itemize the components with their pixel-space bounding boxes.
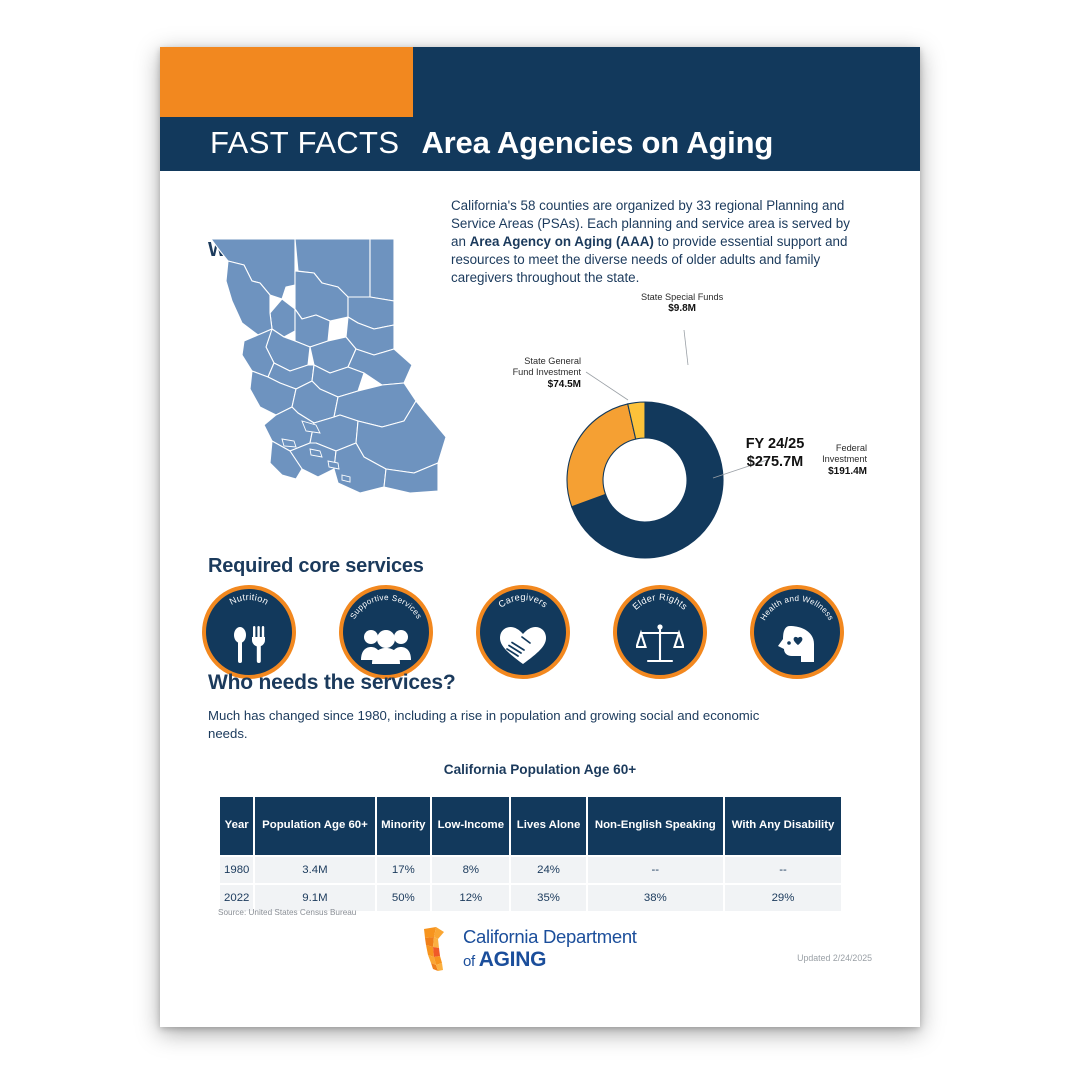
orange-accent-block [160,47,413,117]
logo-line-california-department: California Department [463,928,637,947]
header-title-group: FAST FACTS Area Agencies on Aging [210,115,773,171]
scales-of-justice-icon [617,619,703,671]
cdA-logo: California Department of AGING [422,923,637,975]
label-text-general-1: State General [524,356,581,366]
label-value-special: $9.8M [641,303,723,314]
logo-line-of-aging: of AGING [463,949,637,970]
people-group-icon [343,619,429,671]
table-cell: 50% [377,885,431,911]
infographic-page: FAST FACTS Area Agencies on Aging What’s… [0,0,1080,1080]
svg-text:Supportive Services: Supportive Services [348,593,423,621]
page-title: Area Agencies on Aging [421,125,773,161]
label-text-special: State Special Funds [641,292,723,302]
table-column-header: Year [220,797,253,855]
table-cell: 38% [588,885,723,911]
intro-paragraph: California's 58 counties are organized b… [451,197,863,287]
table-column-header: With Any Disability [725,797,841,855]
logo-aging: AGING [479,948,546,971]
table-cell: 3.4M [255,857,374,883]
table-header-row: YearPopulation Age 60+MinorityLow-Income… [220,797,841,855]
california-shape-logo-icon [422,926,456,972]
head-with-heart-icon [754,619,840,671]
donut-label-state-general-fund: State General Fund Investment $74.5M [457,356,581,390]
table-column-header: Minority [377,797,431,855]
california-counties-map-icon [198,225,453,495]
intro-text-bold: Area Agency on Aging (AAA) [470,234,654,249]
table-column-header: Non-English Speaking [588,797,723,855]
core-service-badge-caregivers[interactable]: Caregivers [476,585,570,679]
donut-slices [567,402,723,558]
svg-text:Nutrition: Nutrition [228,592,271,607]
population-table: YearPopulation Age 60+MinorityLow-Income… [218,795,843,913]
label-value-general: $74.5M [457,379,581,390]
label-value-federal: $191.4M [775,466,867,477]
donut-chart-svg [445,290,875,580]
table-cell: 8% [432,857,509,883]
handshake-heart-icon [480,619,566,671]
badge-label-supportive-services: Supportive Services [348,593,423,621]
table-body: 19803.4M17%8%24%----20229.1M50%12%35%38%… [220,857,841,911]
funding-donut-chart: State Special Funds $9.8M State General … [445,290,875,580]
label-text-federal-2: Investment [822,454,867,464]
leader-lines [586,330,767,478]
badge-label-caregivers: Caregivers [496,592,549,610]
table-cell: 12% [432,885,509,911]
updated-date: Updated 2/24/2025 [797,953,872,963]
badge-label-health-and-wellness: Health and Wellness [759,594,836,622]
core-service-badge-elder-rights[interactable]: Elder Rights [613,585,707,679]
label-text-federal-1: Federal [836,443,867,453]
logo-of: of [463,953,479,970]
svg-text:Elder Rights: Elder Rights [631,592,690,612]
badge-label-nutrition: Nutrition [228,592,271,607]
table-column-header: Population Age 60+ [255,797,374,855]
logo-wordmark: California Department of AGING [463,928,637,970]
core-service-badge-health-and-wellness[interactable]: Health and Wellness [750,585,844,679]
page-header: FAST FACTS Area Agencies on Aging [160,47,920,171]
table-column-header: Lives Alone [511,797,585,855]
table-cell: 29% [725,885,841,911]
table-cell: -- [588,857,723,883]
badge-label-elder-rights: Elder Rights [631,592,690,612]
section-heading-core-services: Required core services [208,555,424,578]
donut-label-state-special-funds: State Special Funds $9.8M [641,292,723,315]
core-service-badge-nutrition[interactable]: Nutrition [202,585,296,679]
donut-label-federal-investment: Federal Investment $191.4M [775,443,867,477]
table-source-note: Source: United States Census Bureau [218,908,356,917]
eyebrow-fast-facts: FAST FACTS [210,125,399,161]
table-cell: -- [725,857,841,883]
table-column-header: Low-Income [432,797,509,855]
core-service-badge-supportive-services[interactable]: Supportive Services [339,585,433,679]
svg-text:Caregivers: Caregivers [496,592,549,610]
who-needs-paragraph: Much has changed since 1980, including a… [208,707,768,743]
svg-text:Health and Wellness: Health and Wellness [759,594,836,622]
spoon-fork-icon [206,619,292,671]
document-card: FAST FACTS Area Agencies on Aging What’s… [160,47,920,1027]
table-cell: 24% [511,857,585,883]
table-title: California Population Age 60+ [160,762,920,777]
core-services-badges: Nutrition Suppo [202,585,892,685]
donut-slice-state-general-fund-investment [567,404,636,507]
table-row: 19803.4M17%8%24%---- [220,857,841,883]
table-cell: 17% [377,857,431,883]
label-text-general-2: Fund Investment [513,367,581,377]
section-heading-who-needs-services: Who needs the services? [208,671,455,695]
table-cell: 1980 [220,857,253,883]
table-cell: 35% [511,885,585,911]
